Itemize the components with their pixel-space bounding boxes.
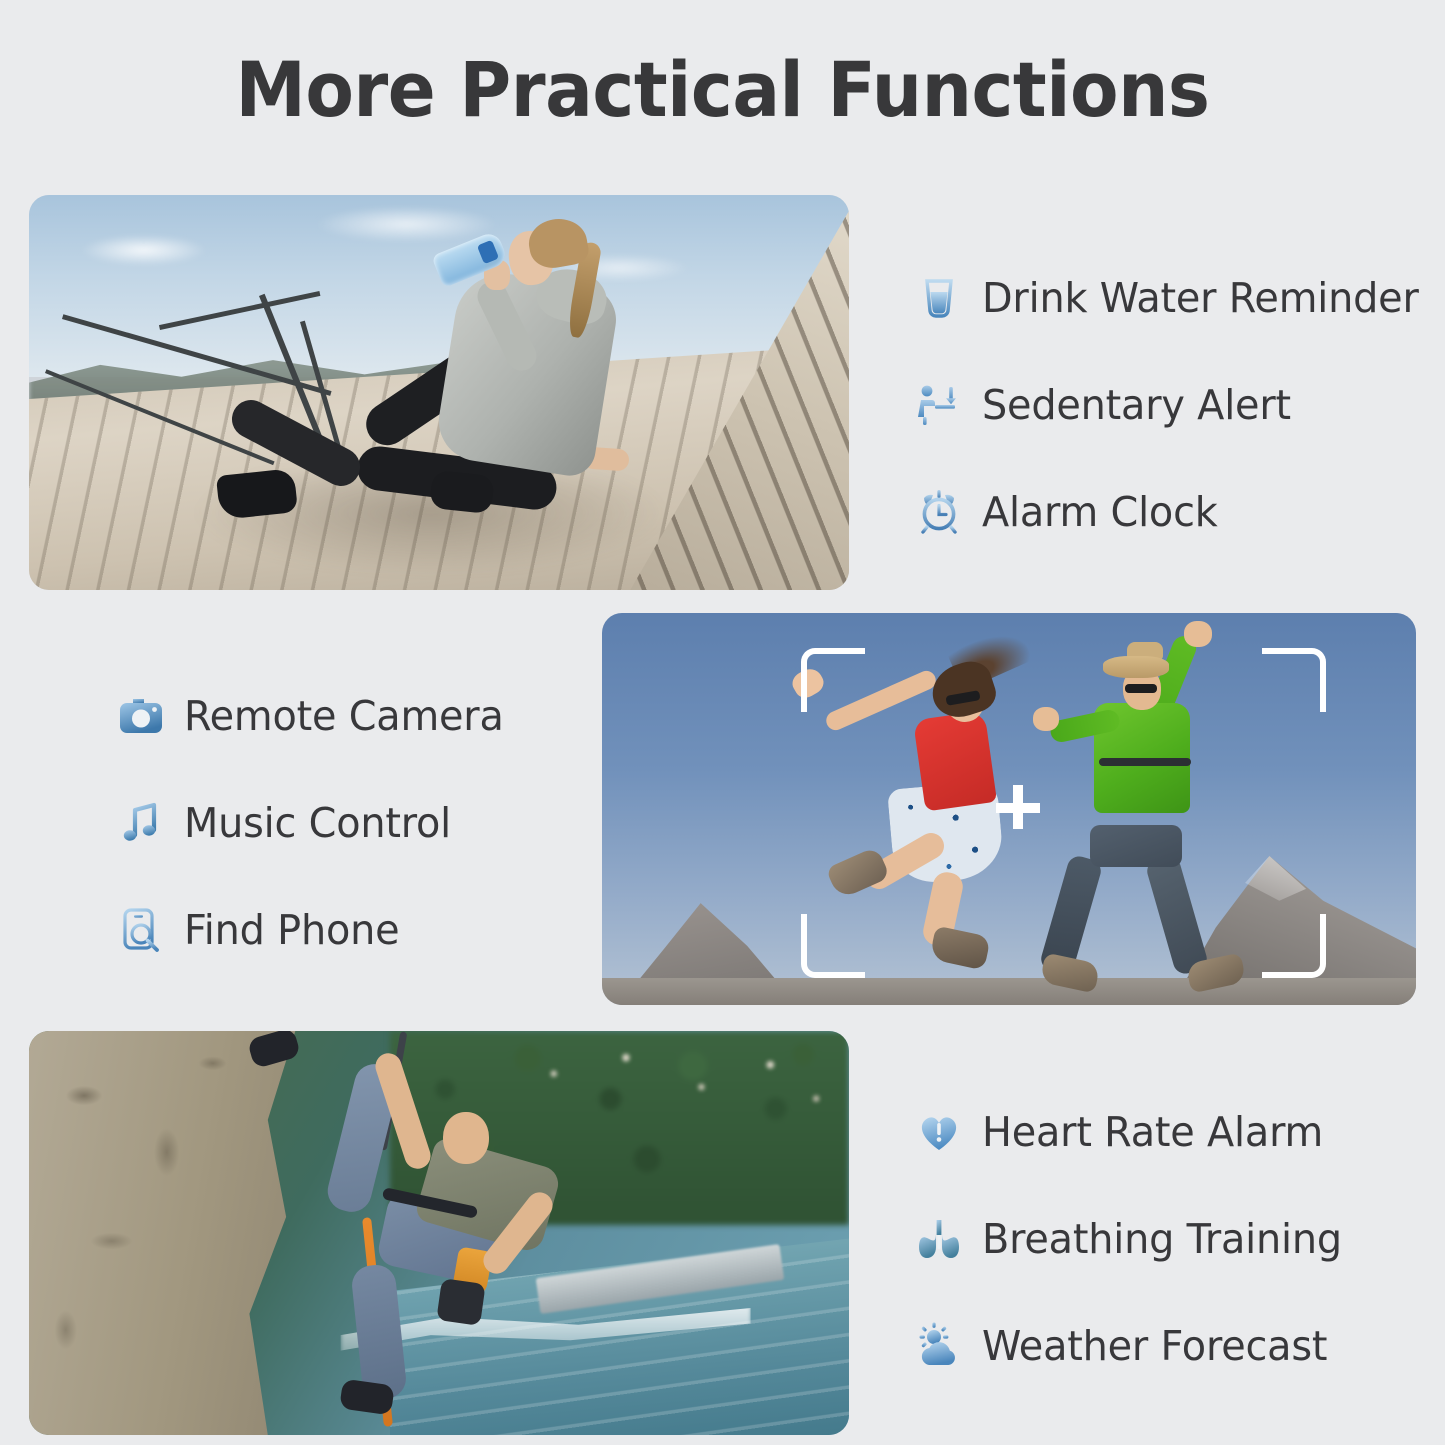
man-belt xyxy=(1099,758,1191,766)
feature-label: Music Control xyxy=(184,799,451,847)
sedentary-person-icon xyxy=(908,374,970,436)
feature-item-drink-water-reminder[interactable]: Drink Water Reminder xyxy=(908,244,1428,351)
lungs-icon xyxy=(908,1208,970,1270)
feature-label: Breathing Training xyxy=(982,1215,1342,1263)
remote-camera-photo-card xyxy=(602,613,1416,1005)
hydrate-photo-scene xyxy=(29,195,849,590)
feature-label: Sedentary Alert xyxy=(982,381,1291,429)
viewfinder-corner-bottom-right xyxy=(1262,914,1326,978)
feature-item-breathing-training[interactable]: Breathing Training xyxy=(908,1185,1428,1292)
feature-item-remote-camera[interactable]: Remote Camera xyxy=(110,662,630,769)
alarm-clock-icon xyxy=(908,481,970,543)
remote-camera-photo-scene xyxy=(602,613,1416,1005)
feature-label: Remote Camera xyxy=(184,692,504,740)
feature-item-weather-forecast[interactable]: Weather Forecast xyxy=(908,1292,1428,1399)
feature-label: Heart Rate Alarm xyxy=(982,1108,1323,1156)
feature-item-sedentary-alert[interactable]: Sedentary Alert xyxy=(908,351,1428,458)
hillside-houses xyxy=(521,1047,849,1136)
climber-head xyxy=(443,1112,489,1164)
feature-list-right-bottom: Heart Rate Alarm Breathing Training xyxy=(908,1078,1428,1399)
feature-item-heart-rate-alarm[interactable]: Heart Rate Alarm xyxy=(908,1078,1428,1185)
feature-item-find-phone[interactable]: Find Phone xyxy=(110,876,630,983)
viewfinder-crosshair-icon xyxy=(1013,785,1023,829)
climbing-photo-scene xyxy=(29,1031,849,1435)
viewfinder-corner-top-right xyxy=(1262,648,1326,712)
man-hand xyxy=(1033,707,1059,731)
feature-showcase-page: More Practical Functions xyxy=(0,0,1445,1445)
feature-label: Alarm Clock xyxy=(982,488,1218,536)
man-hand xyxy=(1184,621,1212,647)
man-sunglasses xyxy=(1125,684,1157,693)
feature-label: Drink Water Reminder xyxy=(982,274,1419,322)
music-note-icon xyxy=(110,792,172,854)
water-glass-icon xyxy=(908,267,970,329)
feature-item-music-control[interactable]: Music Control xyxy=(110,769,630,876)
ridge-ground xyxy=(602,978,1416,1005)
heart-alert-icon xyxy=(908,1101,970,1163)
camera-icon xyxy=(110,685,172,747)
feature-label: Weather Forecast xyxy=(982,1322,1327,1370)
feature-item-alarm-clock[interactable]: Alarm Clock xyxy=(908,458,1428,565)
woman-red-top xyxy=(913,710,997,811)
hydrate-photo-card xyxy=(29,195,849,590)
viewfinder-corner-bottom-left xyxy=(801,914,865,978)
sun-cloud-icon xyxy=(908,1315,970,1377)
climbing-photo-card xyxy=(29,1031,849,1435)
feature-list-right-top: Drink Water Reminder S xyxy=(908,244,1428,565)
viewfinder-corner-top-left xyxy=(801,648,865,712)
man-hat-brim xyxy=(1103,656,1169,678)
woman-shoe xyxy=(216,468,298,520)
man-trousers xyxy=(1090,825,1182,867)
feature-label: Find Phone xyxy=(184,906,399,954)
feature-list-left-middle: Remote Camera Music Control xyxy=(110,662,630,983)
chalk-bag xyxy=(436,1279,485,1327)
find-phone-icon xyxy=(110,899,172,961)
page-title: More Practical Functions xyxy=(51,52,1395,128)
